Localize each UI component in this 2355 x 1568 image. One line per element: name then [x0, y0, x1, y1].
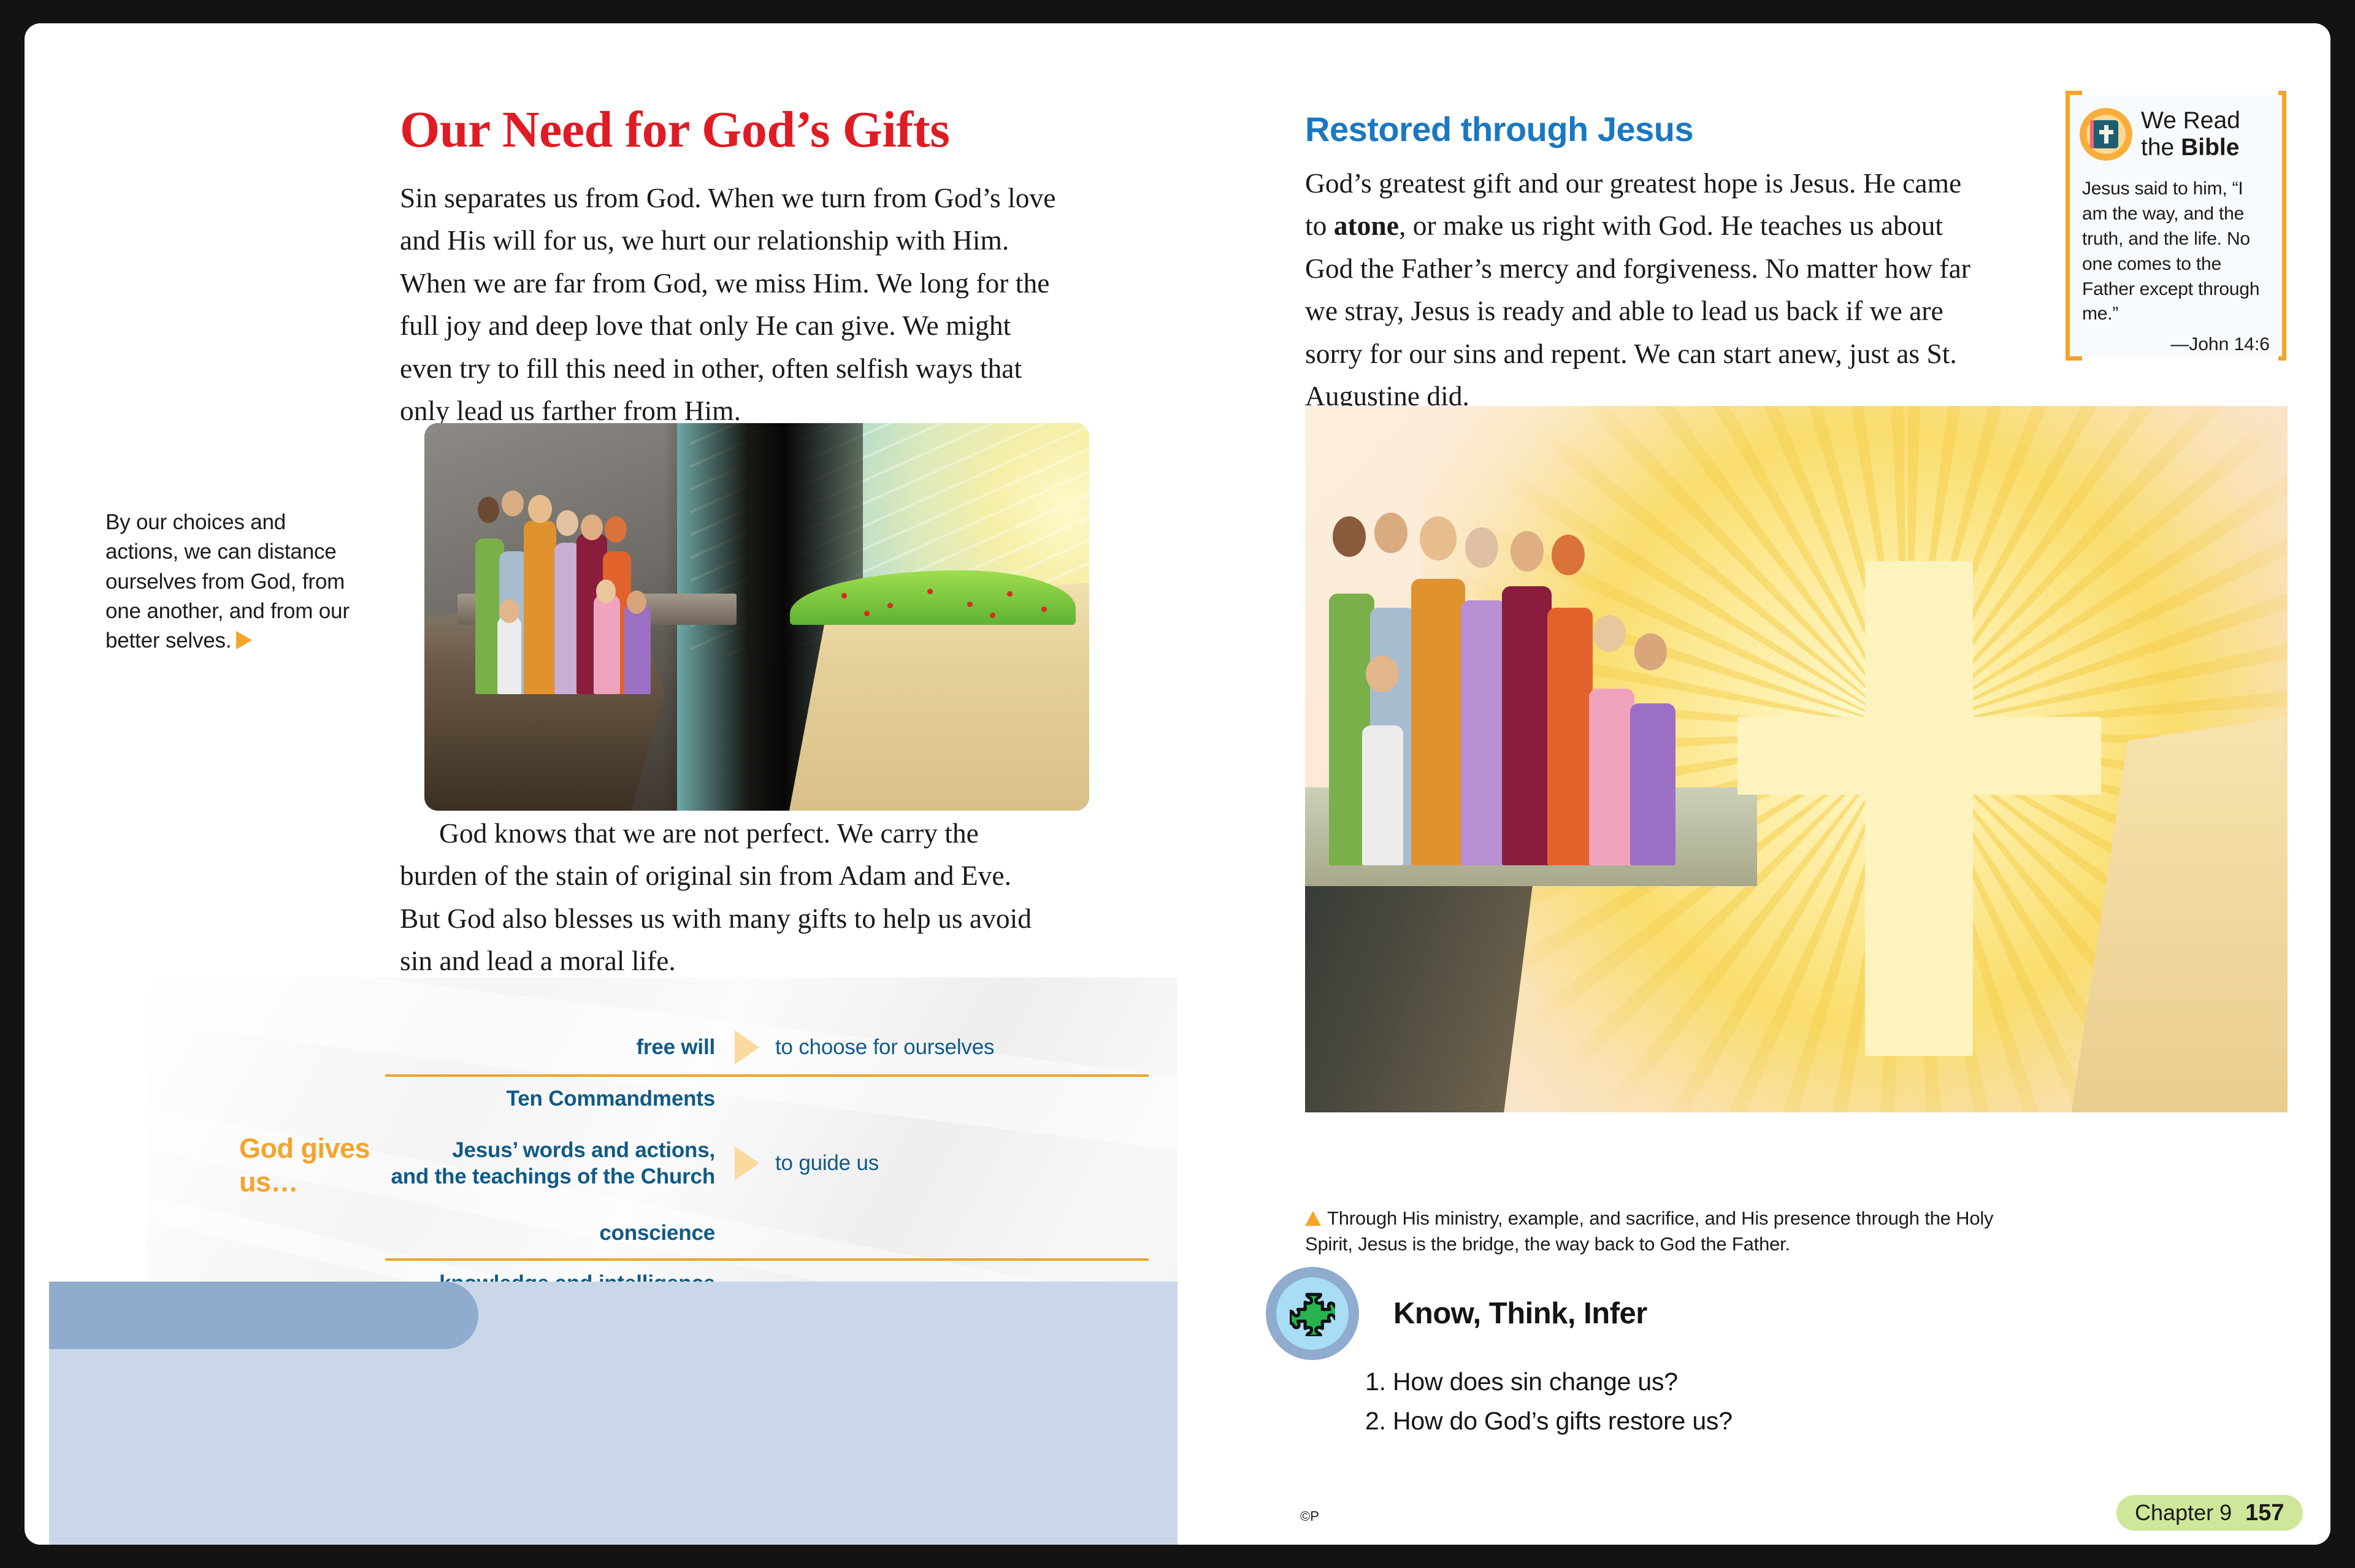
copyright-mark-right: ©P [1300, 1509, 1319, 1524]
puzzle-piece-icon [1266, 1267, 1359, 1360]
bible-title-line-2-bold: Bible [2181, 134, 2239, 161]
illustration-chasm [424, 423, 1089, 811]
gift-arrow-spacer [735, 1216, 759, 1250]
page-section-right: Chapter 9 [2135, 1500, 2232, 1526]
illustration-caption-right: Through His ministry, example, and sacri… [1305, 1206, 1998, 1257]
illustration-cross-bridge [1305, 406, 2288, 1112]
gift-term: Ten Commandments [385, 1085, 729, 1112]
bible-title-line-1: We Read [2141, 107, 2240, 134]
kti-question-1: 1. How does sin change us? [1365, 1367, 1678, 1396]
we-read-the-bible-box: We Read the Bible Jesus said to him, “I … [2066, 91, 2286, 361]
triangle-up-icon [1305, 1211, 1321, 1226]
bible-book-icon [2080, 108, 2132, 161]
know-think-infer-title: Know, Think, Infer [1393, 1296, 1647, 1331]
triangle-right-icon [236, 631, 252, 649]
gifts-table-label: God gives us… [239, 1132, 399, 1199]
gift-arrow-icon [735, 1030, 759, 1065]
left-paragraph-1: Sin separates us from God. When we turn … [400, 177, 1057, 432]
bible-quote-text: Jesus said to him, “I am the way, and th… [2070, 161, 2282, 327]
right-paragraph-post: , or make us right with God. He teaches … [1305, 210, 1970, 411]
kti-question-2: 2. How do God’s gifts restore us? [1365, 1407, 1733, 1436]
right-paragraph-1: God’s greatest gift and our greatest hop… [1305, 162, 1980, 417]
gifts-table-row: conscience [385, 1206, 1149, 1261]
illustration-figures-walking [1325, 498, 1737, 865]
illustration-figures-group [471, 477, 691, 694]
bible-box-header: We Read the Bible [2070, 95, 2282, 161]
page-tag-right: Chapter 9 157 [2116, 1495, 2303, 1531]
margin-caption: By our choices and actions, we can dista… [105, 508, 363, 656]
gift-description: to guide us [775, 1151, 879, 1176]
gifts-table-row: Ten Commandments [385, 1077, 1149, 1121]
bible-box-title: We Read the Bible [2141, 107, 2240, 161]
gift-arrow-spacer [735, 1082, 759, 1116]
left-paragraph-2: God knows that we are not perfect. We ca… [400, 812, 1057, 982]
know-think-infer-bar [49, 1282, 478, 1349]
page-title-right: Restored through Jesus [1305, 109, 1949, 149]
page-number-right: 157 [2245, 1500, 2284, 1526]
gifts-table-row: Jesus’ words and actions,and the teachin… [385, 1121, 1149, 1206]
gift-term: free will [385, 1034, 729, 1060]
gift-description: to choose for ourselves [775, 1035, 994, 1060]
bible-citation: —John 14:6 [2070, 327, 2282, 355]
illustration-caption-text: Through His ministry, example, and sacri… [1305, 1207, 1993, 1255]
vocabulary-term-atone: atone [1334, 210, 1399, 241]
page-title-left: Our Need for God’s Gifts [400, 104, 1136, 156]
gift-term: Jesus’ words and actions,and the teachin… [385, 1137, 729, 1190]
page-sheet: Our Need for God’s Gifts Sin separates u… [25, 23, 2330, 1545]
gift-term: conscience [385, 1220, 729, 1246]
bible-title-line-2-regular: the [2141, 134, 2181, 161]
gifts-table-row: free willto choose for ourselves [385, 1018, 1149, 1077]
gift-arrow-icon [735, 1146, 759, 1180]
margin-caption-text: By our choices and actions, we can dista… [105, 510, 350, 652]
book-spread: Our Need for God’s Gifts Sin separates u… [0, 0, 2355, 1568]
